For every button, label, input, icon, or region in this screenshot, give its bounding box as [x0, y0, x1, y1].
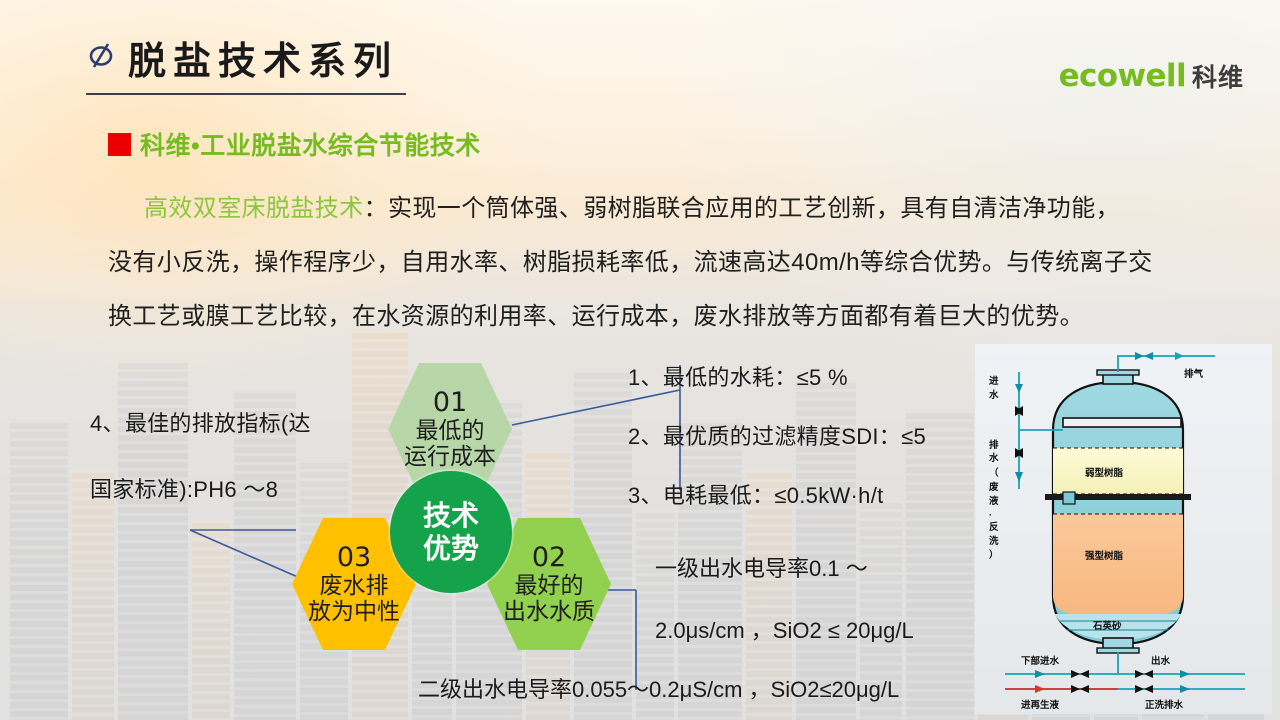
rinse-drain-label: 正洗排水 [1145, 699, 1184, 711]
hexagon-02-number: 02 [532, 543, 566, 573]
discharge-note-line-2: 国家标准):PH6 ～8 [90, 472, 380, 504]
outlet-label: 出水 [1151, 655, 1171, 667]
advantage-item-1: 1、最低的水耗：≤5 % [628, 360, 968, 392]
water-quality-note-line-1: 一级出水电导率0.1 ～ [655, 551, 868, 583]
discharge-note: 4、最佳的排放指标(达 国家标准):PH6 ～8 [90, 406, 380, 538]
core-label-line1: 技术 [423, 499, 479, 532]
advantage-item-3: 3、电耗最低：≤0.5kW·h/t [628, 478, 968, 510]
top-distributor-plate [1063, 418, 1181, 427]
core-label-line2: 优势 [423, 532, 479, 565]
drain-label-char3: （ [989, 467, 999, 479]
drain-label-char7: 反 [989, 521, 999, 533]
vessel-process-diagram: 排气 进 水 排 水 （ 废 液 · 反 洗 ） 弱型树脂 强型树脂 [975, 344, 1272, 714]
strong-resin-label: 强型树脂 [1085, 550, 1124, 562]
hexagon-01-number: 01 [433, 388, 467, 418]
strong-resin-layer [1053, 514, 1183, 614]
hexagon-02-line1: 最好的 [515, 573, 584, 599]
hexagon-03-line1: 废水排 [320, 573, 389, 599]
hexagon-02-line2: 出水水质 [503, 599, 595, 625]
hexagon-01-line1: 最低的 [416, 418, 485, 444]
slide-canvas: 脱盐技术系列 ecowell 科维 科维•工业脱盐水综合节能技术 高效双室床脱盐… [0, 0, 1280, 720]
hexagon-03-line2: 放为中性 [308, 599, 400, 625]
vent-label: 排气 [1184, 368, 1204, 380]
drain-label-char2: 水 [989, 452, 999, 464]
drain-label-char1: 排 [989, 439, 999, 451]
drain-label-char8: 洗 [989, 535, 999, 547]
drain-label-char5: 液 [989, 495, 999, 507]
inlet-top-label-char1: 进 [989, 375, 999, 387]
discharge-note-line-1: 4、最佳的排放指标(达 [90, 406, 380, 438]
water-quality-note-line-2: 2.0μs/cm ，SiO2 ≤ 20μg/L [655, 613, 914, 645]
drain-label-char9: ） [989, 549, 999, 561]
hexagon-01-line2: 运行成本 [404, 444, 496, 470]
advantages-list: 1、最低的水耗：≤5 % 2、最优质的过滤精度SDI：≤5 3、电耗最低：≤0.… [628, 360, 968, 537]
hexagon-03-number: 03 [337, 543, 371, 573]
drain-label-char4: 废 [989, 481, 999, 493]
weak-resin-label: 弱型树脂 [1085, 467, 1124, 479]
quartz-sand-label: 石英砂 [1092, 620, 1122, 632]
inlet-top-label-char2: 水 [989, 389, 999, 401]
advantage-item-2: 2、最优质的过滤精度SDI：≤5 [628, 419, 968, 451]
hexagon-core-circle[interactable]: 技术 优势 [390, 471, 512, 593]
drain-label-char6: · [989, 510, 992, 521]
bottom-inlet-label: 下部进水 [1021, 655, 1060, 667]
water-quality-note-line-3: 二级出水电导率0.055～0.2μS/cm ，SiO2≤20μg/L [418, 672, 899, 704]
regen-inlet-label: 进再生液 [1021, 699, 1060, 711]
